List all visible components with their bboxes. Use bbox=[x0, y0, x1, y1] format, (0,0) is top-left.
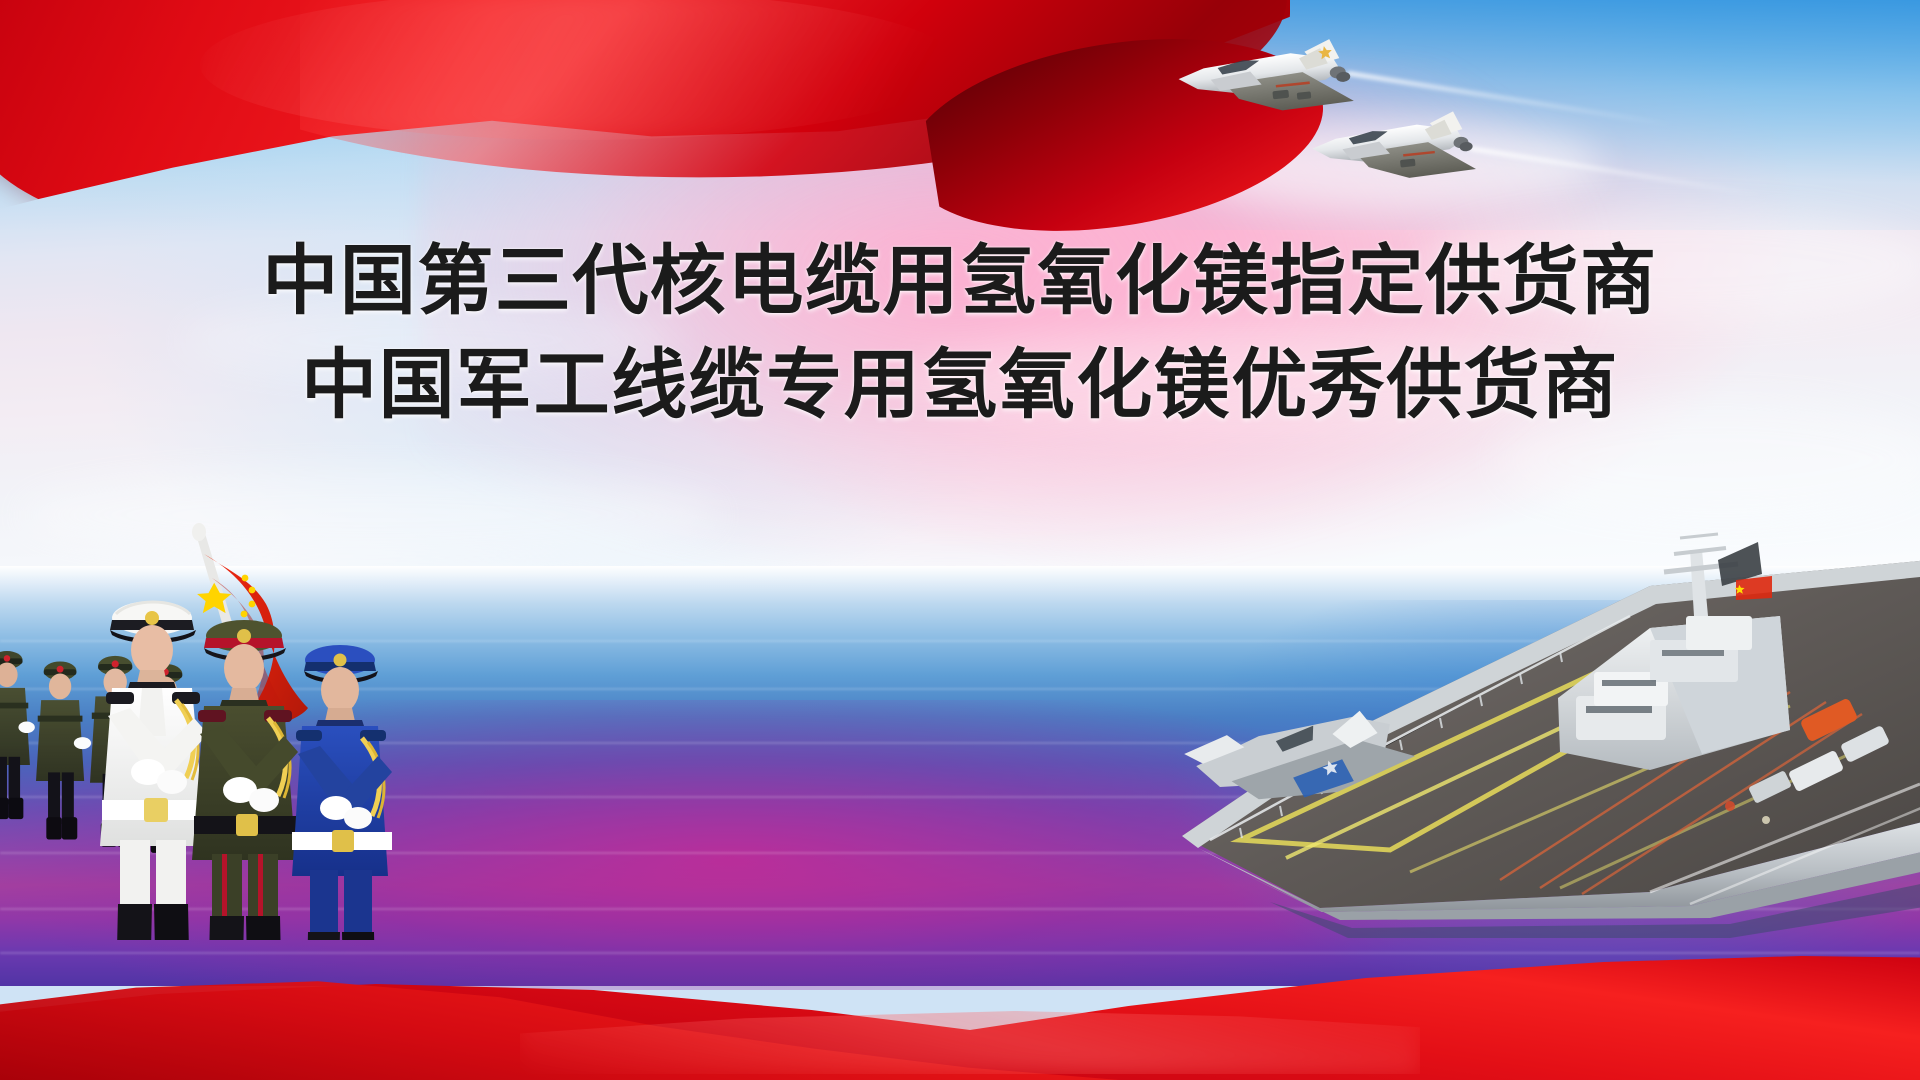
aircraft-carrier bbox=[1090, 520, 1920, 940]
fighter-jet-wing bbox=[1306, 103, 1482, 210]
air-force-officer-blue bbox=[292, 645, 392, 940]
army-officer-green bbox=[192, 620, 298, 940]
cloud bbox=[1500, 400, 1920, 520]
banner-canvas: 中国第三代核电缆用氢氧化镁指定供货商 中国军工线缆专用氢氧化镁优秀供货商 bbox=[0, 0, 1920, 1080]
wave-line bbox=[0, 952, 1920, 954]
honor-guard-group bbox=[0, 520, 510, 940]
navy-officer-white bbox=[100, 601, 208, 940]
cloud bbox=[180, 300, 680, 380]
cloud bbox=[900, 330, 1600, 430]
cloud bbox=[1420, 210, 1920, 320]
